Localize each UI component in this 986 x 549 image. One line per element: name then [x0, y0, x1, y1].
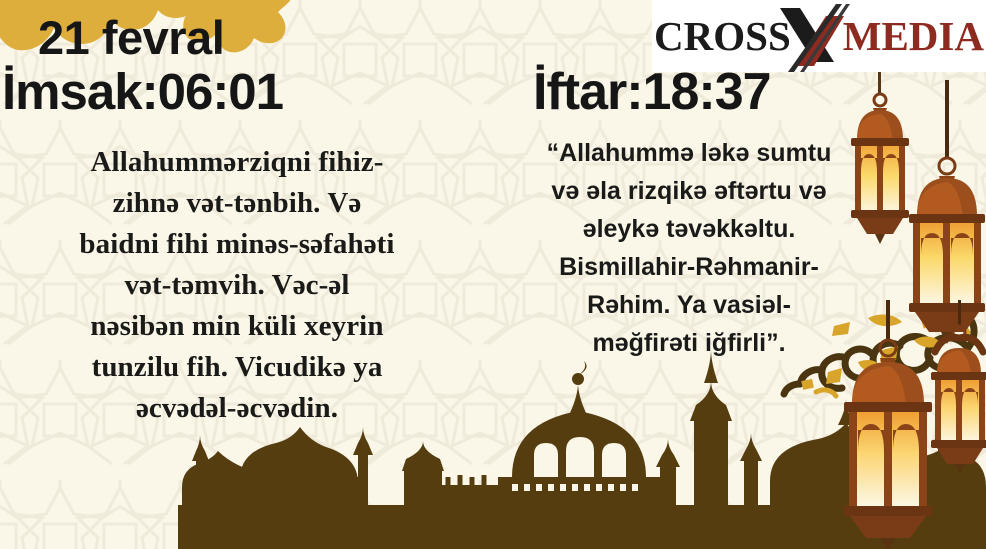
- cross-x-mark: [770, 2, 850, 72]
- dua-right-line: məğfirəti iğfirli”.: [498, 324, 880, 362]
- dua-left-line: baidni fihi minəs-səfahəti: [8, 224, 466, 265]
- logo-media-text: MEDIA: [843, 13, 984, 59]
- dua-right-line: Bismillahir-Rəhmanir-: [498, 248, 880, 286]
- dua-left-line: vət-təmvih. Vəc-əl: [8, 265, 466, 306]
- dua-left-line: Allahummərziqni fihiz-: [8, 142, 466, 183]
- imsak-time-heading: İmsak:06:01: [2, 64, 283, 120]
- date-heading: 21 fevral: [38, 12, 224, 64]
- dua-right-line: “Allahummə lәkә sumtu: [498, 134, 880, 172]
- dua-right-line: və əla rizqikə əftərtu və: [498, 172, 880, 210]
- ramadan-prayer-times-poster: 21 fevral İmsak:06:01 İftar:18:37 Allahu…: [0, 0, 986, 549]
- crossxmedia-logo[interactable]: CROSSMEDIA: [652, 0, 986, 72]
- dua-left-line: əcvədəl-əcvədin.: [8, 388, 466, 429]
- iftar-dua-text: “Allahummə lәkә sumtu və əla rizqikə əft…: [498, 134, 880, 362]
- dua-left-line: zihnə vət-tənbih. Və: [8, 183, 466, 224]
- imsak-dua-text: Allahummərziqni fihiz- zihnə vət-tənbih.…: [8, 142, 466, 429]
- dua-right-line: Rəhim. Ya vasiəl-: [498, 286, 880, 324]
- dua-right-line: əleykə təvəkkəltu.: [498, 210, 880, 248]
- dua-left-line: nəsibən min küli xeyrin: [8, 306, 466, 347]
- dua-left-line: tunzilu fih. Vicudikə ya: [8, 347, 466, 388]
- logo-inner: CROSSMEDIA: [652, 0, 986, 72]
